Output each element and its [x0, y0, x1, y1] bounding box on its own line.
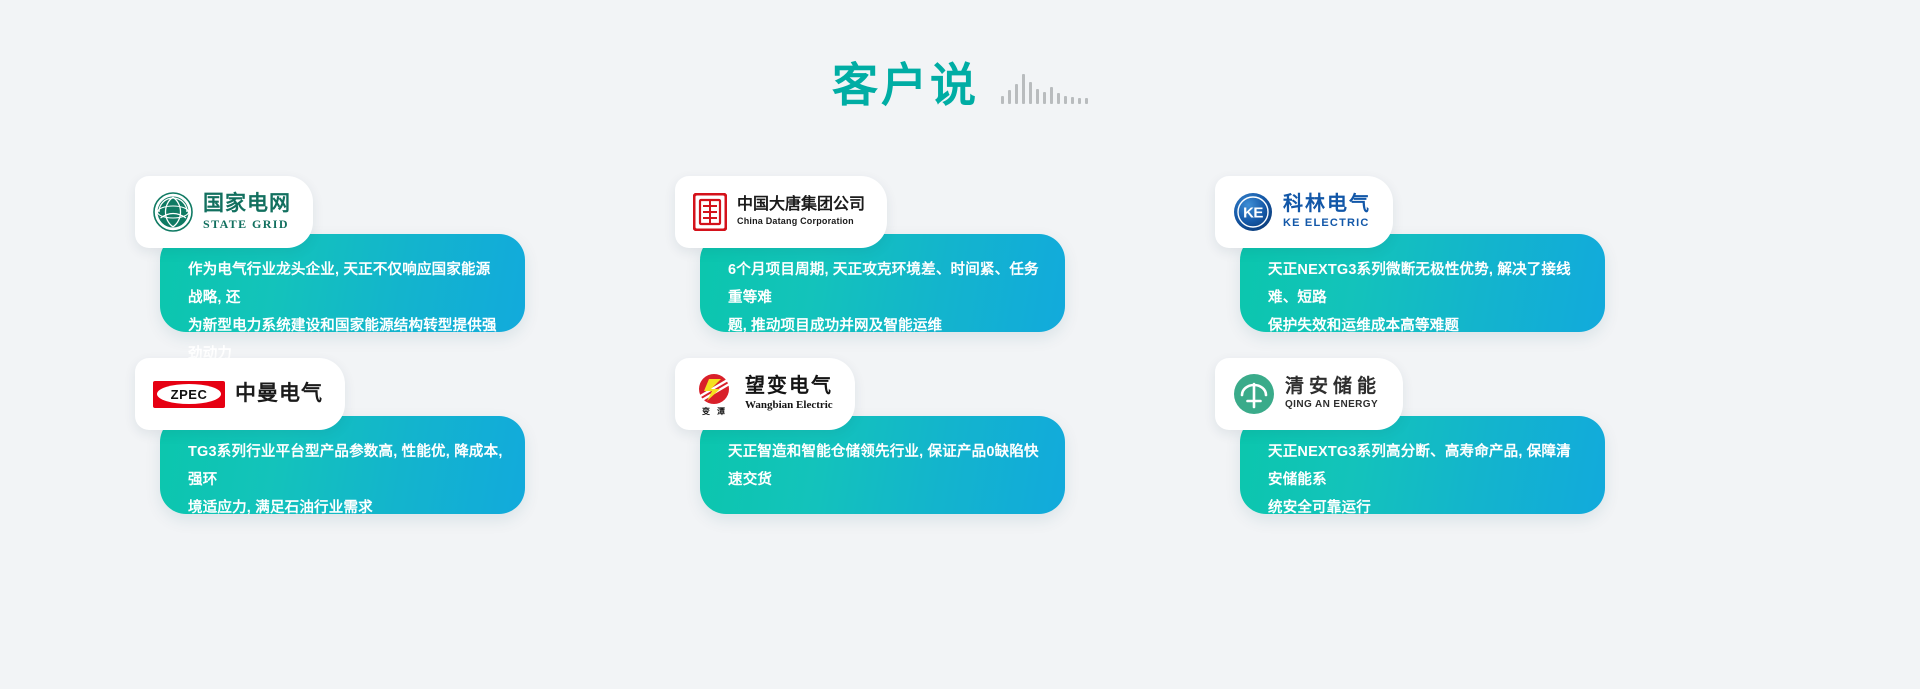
brand-name-en: STATE GRID	[203, 218, 291, 231]
testimonial-quote: 天正NEXTG3系列微断无极性优势, 解决了接线难、短路 保护失效和运维成本高等…	[1268, 256, 1585, 340]
waveform-bar	[1064, 96, 1067, 104]
brand-logo-tab: 清安储能 QING AN ENERGY	[1215, 358, 1403, 430]
brand-name-en: QING AN ENERGY	[1285, 400, 1381, 411]
brand-name-en: KE ELECTRIC	[1283, 218, 1371, 230]
testimonial-body: 天正NEXTG3系列高分断、高寿命产品, 保障清安储能系 统安全可靠运行	[1240, 416, 1605, 514]
testimonial-body: TG3系列行业平台型产品参数高, 性能优, 降成本, 强环 境适应力, 满足石油…	[160, 416, 525, 514]
testimonials-grid: 作为电气行业龙头企业, 天正不仅响应国家能源战略, 还 为新型电力系统建设和国家…	[135, 176, 1785, 514]
zpec-logo-text: ZPEC	[157, 384, 221, 404]
testimonial-card[interactable]: 作为电气行业龙头企业, 天正不仅响应国家能源战略, 还 为新型电力系统建设和国家…	[135, 176, 525, 332]
waveform-bar	[1071, 97, 1074, 104]
testimonial-card[interactable]: 天正NEXTG3系列高分断、高寿命产品, 保障清安储能系 统安全可靠运行 清安储…	[1215, 358, 1605, 514]
testimonial-body: 天正智造和智能仓储领先行业, 保证产品0缺陷快速交货	[700, 416, 1065, 514]
svg-text:变: 变	[702, 406, 710, 416]
waveform-bar	[1050, 87, 1053, 104]
svg-text:潭: 潭	[717, 406, 725, 416]
testimonial-quote: 作为电气行业龙头企业, 天正不仅响应国家能源战略, 还 为新型电力系统建设和国家…	[188, 256, 505, 368]
zpec-logo-icon: ZPEC	[153, 381, 225, 408]
svg-text:KE: KE	[1243, 205, 1263, 222]
waveform-bar	[1078, 98, 1081, 104]
waveform-bar	[1085, 98, 1088, 104]
china-datang-logo-icon	[693, 193, 727, 231]
brand-name-en: Wangbian Electric	[745, 400, 833, 412]
waveform-bar	[1015, 84, 1018, 104]
waveform-bar	[1043, 92, 1046, 104]
brand-logo-tab: KE 科林电气 KE ELECTRIC	[1215, 176, 1393, 248]
section-header: 客户说	[0, 62, 1920, 108]
waveform-bar	[1008, 90, 1011, 104]
brand-name-cn: 科林电气	[1283, 194, 1371, 215]
waveform-bar	[1001, 96, 1004, 104]
brand-name-cn: 中曼电气	[235, 383, 323, 405]
testimonial-body: 天正NEXTG3系列微断无极性优势, 解决了接线难、短路 保护失效和运维成本高等…	[1240, 234, 1605, 332]
brand-logo-tab: ZPEC 中曼电气	[135, 358, 345, 430]
testimonial-card[interactable]: 天正智造和智能仓储领先行业, 保证产品0缺陷快速交货 变 潭 望变电气 Wang…	[675, 358, 1065, 514]
waveform-bar	[1036, 89, 1039, 104]
testimonial-quote: 天正智造和智能仓储领先行业, 保证产品0缺陷快速交货	[728, 438, 1045, 494]
wangbian-electric-logo-icon: 变 潭	[693, 372, 735, 416]
brand-logo-tab: 变 潭 望变电气 Wangbian Electric	[675, 358, 855, 430]
testimonial-body: 6个月项目周期, 天正攻克环境差、时间紧、任务重等难 题, 推动项目成功并网及智…	[700, 234, 1065, 332]
testimonial-card[interactable]: 6个月项目周期, 天正攻克环境差、时间紧、任务重等难 题, 推动项目成功并网及智…	[675, 176, 1065, 332]
testimonial-body: 作为电气行业龙头企业, 天正不仅响应国家能源战略, 还 为新型电力系统建设和国家…	[160, 234, 525, 332]
brand-name-cn: 望变电气	[745, 376, 833, 397]
testimonial-quote: TG3系列行业平台型产品参数高, 性能优, 降成本, 强环 境适应力, 满足石油…	[188, 438, 505, 522]
brand-name-cn: 清安储能	[1285, 377, 1381, 397]
brand-logo-tab: 中国大唐集团公司 China Datang Corporation	[675, 176, 887, 248]
testimonial-quote: 天正NEXTG3系列高分断、高寿命产品, 保障清安储能系 统安全可靠运行	[1268, 438, 1585, 522]
page-title: 客户说	[832, 62, 979, 108]
ke-electric-logo-icon: KE	[1233, 192, 1273, 232]
brand-name-cn: 国家电网	[203, 193, 291, 215]
waveform-bar	[1057, 93, 1060, 104]
testimonial-card[interactable]: 天正NEXTG3系列微断无极性优势, 解决了接线难、短路 保护失效和运维成本高等…	[1215, 176, 1605, 332]
testimonial-quote: 6个月项目周期, 天正攻克环境差、时间紧、任务重等难 题, 推动项目成功并网及智…	[728, 256, 1045, 340]
state-grid-logo-icon	[153, 192, 193, 232]
brand-logo-tab: 国家电网 STATE GRID	[135, 176, 313, 248]
brand-name-cn: 中国大唐集团公司	[737, 197, 865, 214]
waveform-bar	[1022, 74, 1025, 104]
qingan-energy-logo-icon	[1233, 373, 1275, 415]
brand-name-en: China Datang Corporation	[737, 217, 865, 226]
waveform-bar	[1029, 82, 1032, 104]
testimonial-card[interactable]: TG3系列行业平台型产品参数高, 性能优, 降成本, 强环 境适应力, 满足石油…	[135, 358, 525, 514]
audio-waveform-icon	[1001, 66, 1088, 108]
